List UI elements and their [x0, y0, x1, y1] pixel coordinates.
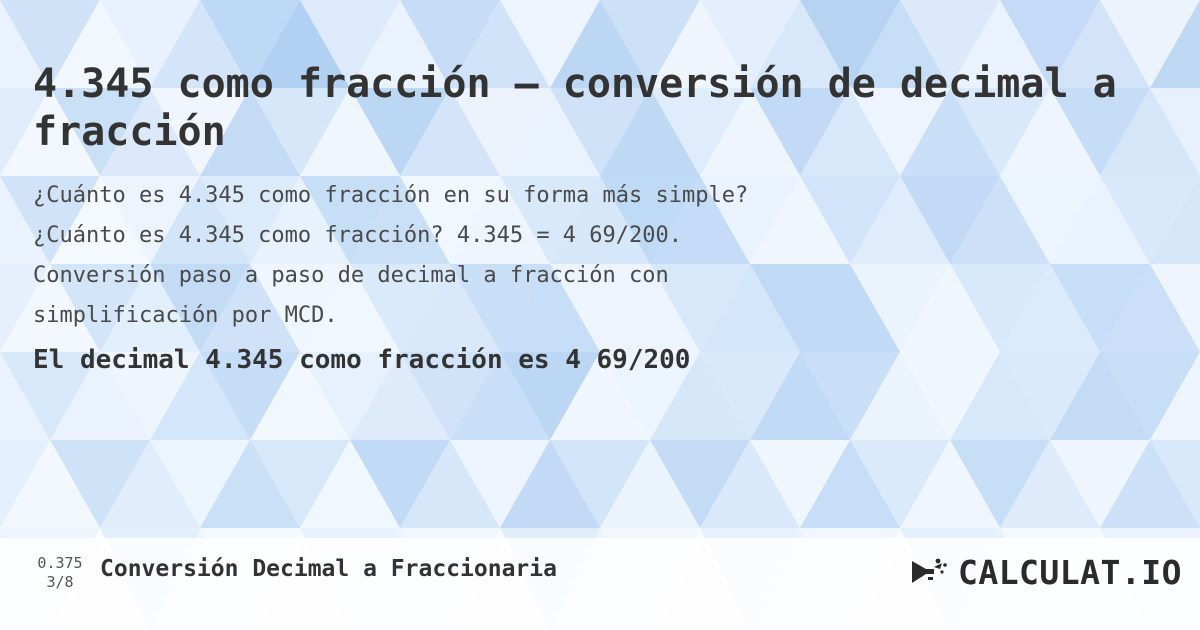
answer-statement: El decimal 4.345 como fracción es 4 69/2…: [33, 345, 690, 375]
calculator-bird-icon: [908, 555, 954, 589]
fraction-value: 3/8: [30, 573, 90, 592]
page-description: ¿Cuánto es 4.345 como fracción en su for…: [33, 176, 1093, 336]
footer: 0.375 3/8 Conversión Decimal a Fracciona…: [0, 538, 1200, 630]
description-line-2: ¿Cuánto es 4.345 como fracción? 4.345 = …: [33, 216, 1093, 256]
brand-logo[interactable]: CALCULAT.IO: [908, 550, 1182, 594]
fraction-decimal-value: 0.375: [30, 554, 90, 573]
description-line-4: simplificación por MCD.: [33, 296, 1093, 336]
page-title: 4.345 como fracción – conversión de deci…: [33, 60, 1123, 156]
footer-section-title: Conversión Decimal a Fraccionaria: [100, 556, 557, 582]
brand-name: CALCULAT.IO: [958, 553, 1182, 592]
description-line-1: ¿Cuánto es 4.345 como fracción en su for…: [33, 176, 1093, 216]
page-root: 4.345 como fracción – conversión de deci…: [0, 0, 1200, 630]
decimal-fraction-icon: 0.375 3/8: [30, 554, 90, 592]
description-line-3: Conversión paso a paso de decimal a frac…: [33, 256, 1093, 296]
